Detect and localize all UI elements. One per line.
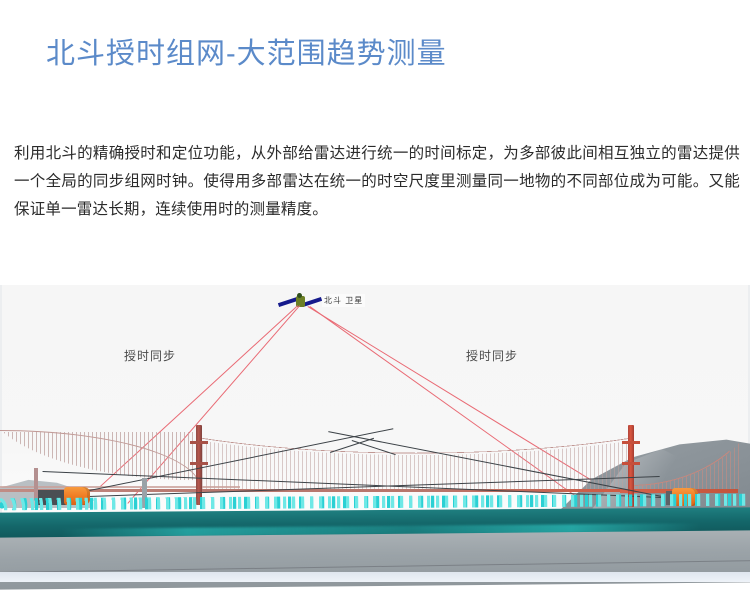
bridge-tower-left-crossbeam-lower — [190, 462, 208, 465]
bridge-tower-left-crossbeam-upper — [190, 441, 208, 444]
bridge-tower-right-crossbeam-upper — [622, 441, 640, 444]
bridge-tower-right-crossbeam-lower — [622, 462, 640, 465]
cable-hangers-left — [0, 432, 196, 489]
description-paragraph: 利用北斗的精确授时和定位功能，从外部给雷达进行统一的时间标定，为多部彼此间相互独… — [14, 140, 740, 224]
sync-label-right: 授时同步 — [466, 347, 518, 364]
sync-label-left: 授时同步 — [124, 347, 176, 364]
bridge-deck — [0, 489, 700, 492]
cable-hangers-right — [634, 432, 740, 489]
page-title: 北斗授时组网-大范围趋势测量 — [46, 34, 447, 74]
foreground-strip — [0, 572, 750, 582]
satellite-label: 北斗 卫星 — [322, 294, 365, 307]
